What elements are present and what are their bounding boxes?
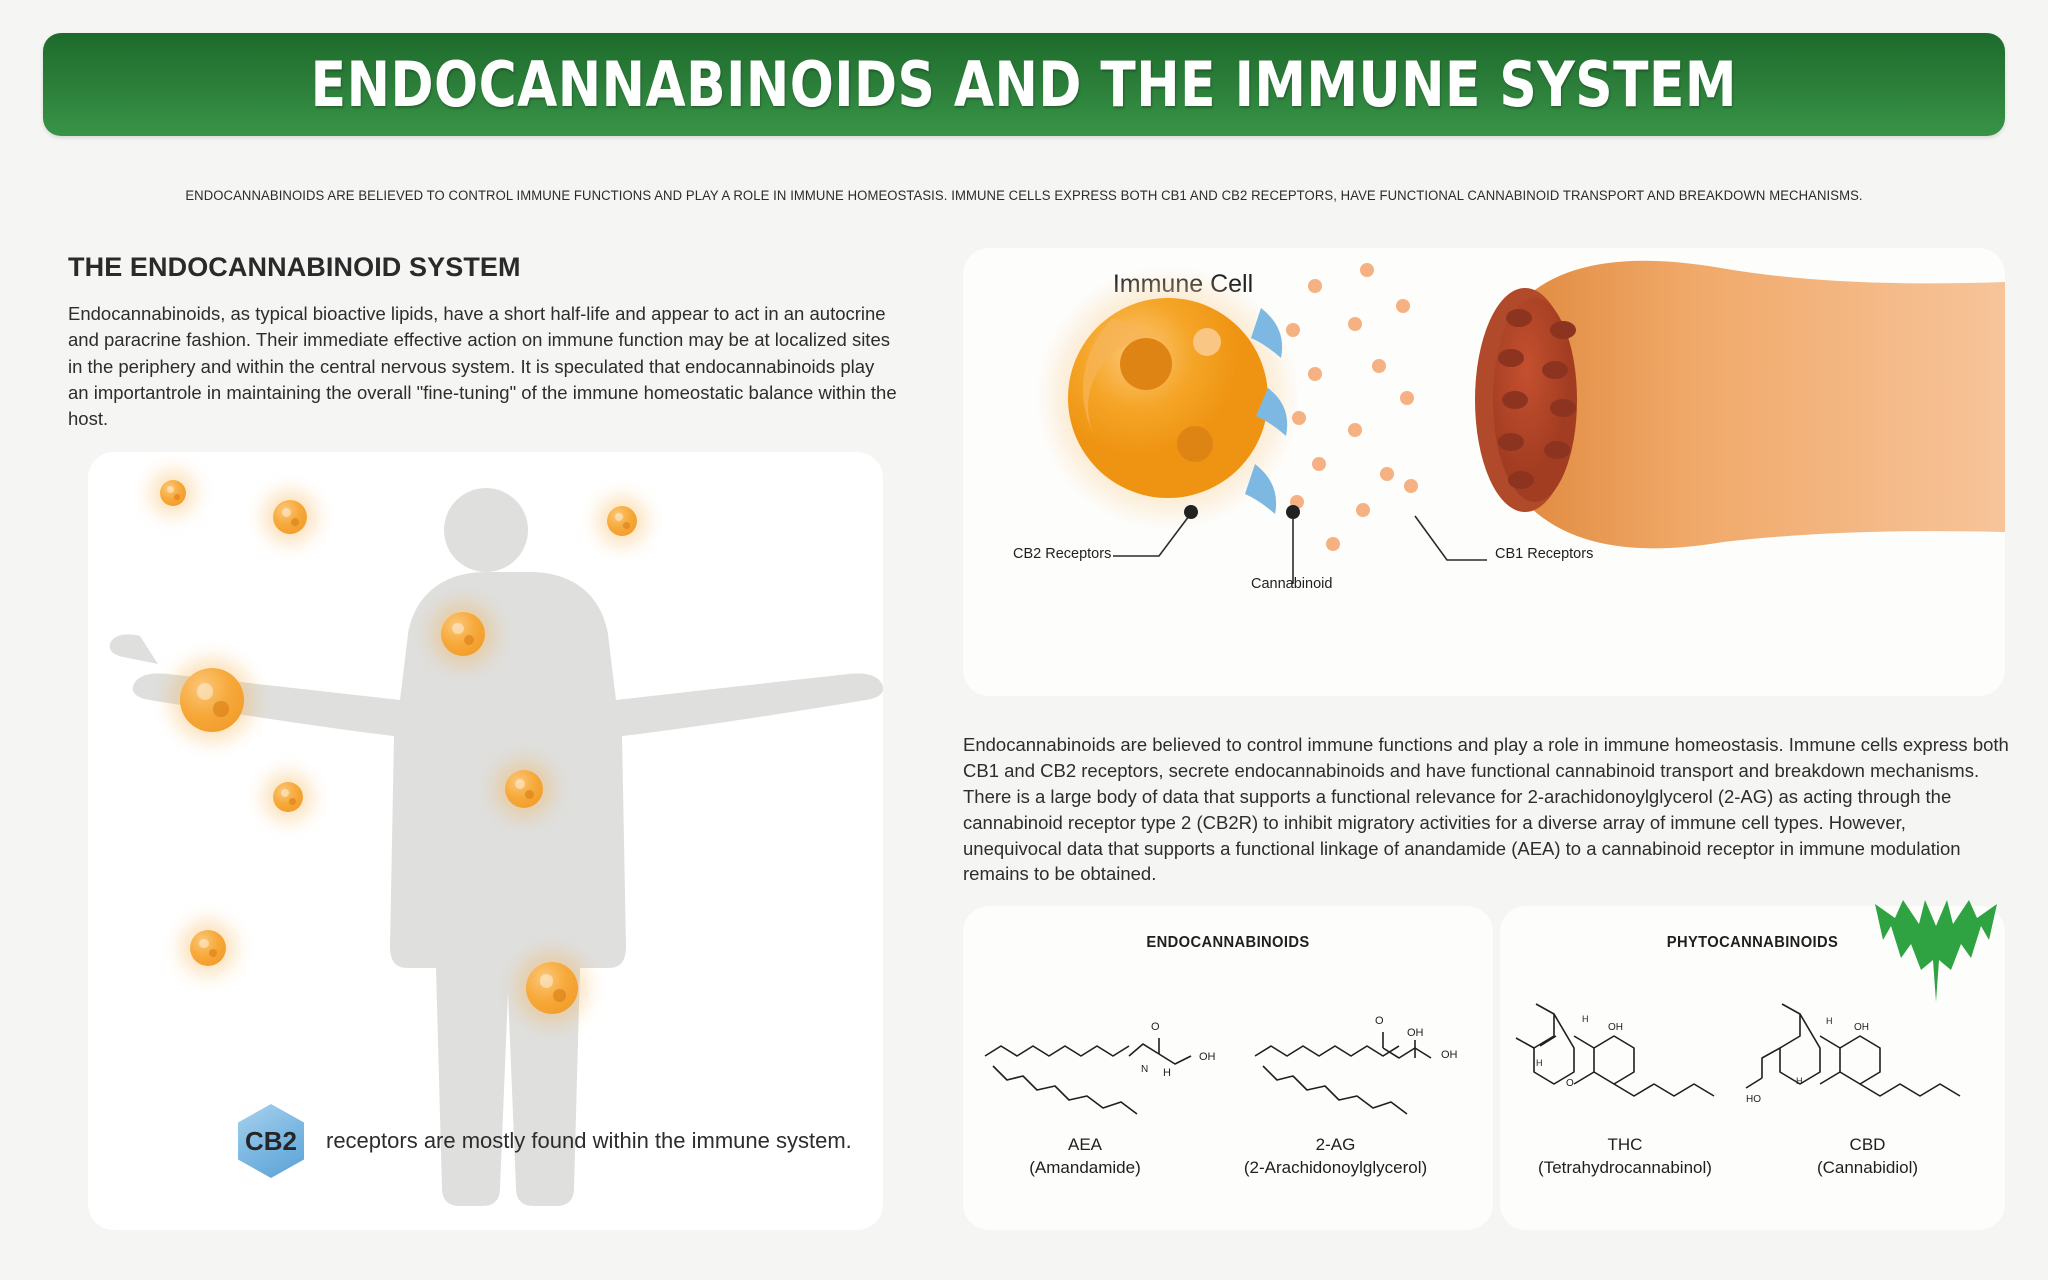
right-paragraph: Endocannabinoids are believed to control…: [963, 732, 2009, 887]
svg-text:OH: OH: [1199, 1051, 1216, 1063]
cb2-callout: CB2 receptors are mostly found within th…: [238, 1104, 852, 1178]
neuron-axon: [1512, 261, 2005, 549]
human-body-card: CB2 receptors are mostly found within th…: [88, 452, 883, 1230]
molecule-label-cbd: CBD (Cannabidiol): [1755, 1134, 1980, 1180]
immune-cell-body: [1068, 298, 1268, 498]
infographic-page: ENDOCANNABINOIDS AND THE IMMUNE SYSTEM E…: [0, 0, 2048, 1280]
phytocannabinoids-card: PHYTOCANNABINOIDS OH O H H: [1500, 906, 2005, 1230]
svg-text:H: H: [1796, 1076, 1803, 1086]
page-title: ENDOCANNABINOIDS AND THE IMMUNE SYSTEM: [311, 48, 1737, 121]
cannabinoid-dots: [1286, 263, 1418, 551]
cannabinoid-blob: [526, 962, 578, 1014]
cannabinoid-blob: [441, 612, 485, 656]
molecule-label-thc: THC (Tetrahydrocannabinol): [1510, 1134, 1740, 1180]
svg-text:H: H: [1582, 1014, 1589, 1024]
svg-text:H: H: [1163, 1067, 1171, 1079]
cannabinoid-blob: [273, 500, 307, 534]
section-paragraph: Endocannabinoids, as typical bioactive l…: [68, 301, 898, 432]
endocannabinoids-heading: ENDOCANNABINOIDS: [976, 934, 1480, 952]
svg-text:OH: OH: [1407, 1027, 1424, 1039]
svg-text:HO: HO: [1746, 1094, 1761, 1105]
label-cannabinoid: Cannabinoid: [1251, 576, 1332, 592]
molecule-abbr: THC: [1510, 1134, 1740, 1157]
cell-neuron-illustration: [963, 248, 2005, 696]
page-subtitle: ENDOCANNABINOIDS ARE BELIEVED TO CONTROL…: [31, 188, 2018, 203]
molecule-label-2ag: 2-AG (2-Arachidonoylglycerol): [1193, 1134, 1478, 1180]
cannabinoid-blob: [505, 770, 543, 808]
molecule-full: (Tetrahydrocannabinol): [1510, 1157, 1740, 1180]
left-text-column: THE ENDOCANNABINOID SYSTEM Endocannabino…: [68, 252, 898, 432]
cannabinoid-blob: [607, 506, 637, 536]
svg-text:H: H: [1826, 1016, 1833, 1026]
label-cb2-receptors: CB2 Receptors: [1013, 546, 1111, 562]
molecule-label-aea: AEA (Amandamide): [985, 1134, 1185, 1180]
svg-text:O: O: [1151, 1021, 1160, 1033]
svg-text:H: H: [1536, 1058, 1543, 1068]
cb2-caption: receptors are mostly found within the im…: [326, 1128, 852, 1154]
svg-text:N: N: [1141, 1064, 1148, 1075]
svg-text:OH: OH: [1441, 1049, 1458, 1061]
molecule-abbr: CBD: [1755, 1134, 1980, 1157]
molecule-abbr: AEA: [985, 1134, 1185, 1157]
cell-neuron-diagram-card: Immune Cell Neuron: [963, 248, 2005, 696]
molecule-full: (Cannabidiol): [1755, 1157, 1980, 1180]
cannabinoid-blob: [180, 668, 244, 732]
title-banner: ENDOCANNABINOIDS AND THE IMMUNE SYSTEM: [43, 33, 2005, 136]
molecule-full: (Amandamide): [985, 1157, 1185, 1180]
section-heading: THE ENDOCANNABINOID SYSTEM: [68, 252, 898, 283]
svg-text:OH: OH: [1608, 1022, 1623, 1033]
label-cb1-receptors: CB1 Receptors: [1495, 546, 1593, 562]
cb2-hexagon-badge: CB2: [238, 1104, 304, 1178]
cannabinoid-blob: [160, 480, 186, 506]
svg-text:O: O: [1566, 1078, 1574, 1089]
svg-text:O: O: [1375, 1015, 1384, 1027]
cannabinoid-blob: [273, 782, 303, 812]
molecule-abbr: 2-AG: [1193, 1134, 1478, 1157]
cannabinoid-blob: [190, 930, 226, 966]
endocannabinoids-card: ENDOCANNABINOIDS O H OH N O: [963, 906, 1493, 1230]
svg-text:OH: OH: [1854, 1022, 1869, 1033]
molecule-full: (2-Arachidonoylglycerol): [1193, 1157, 1478, 1180]
